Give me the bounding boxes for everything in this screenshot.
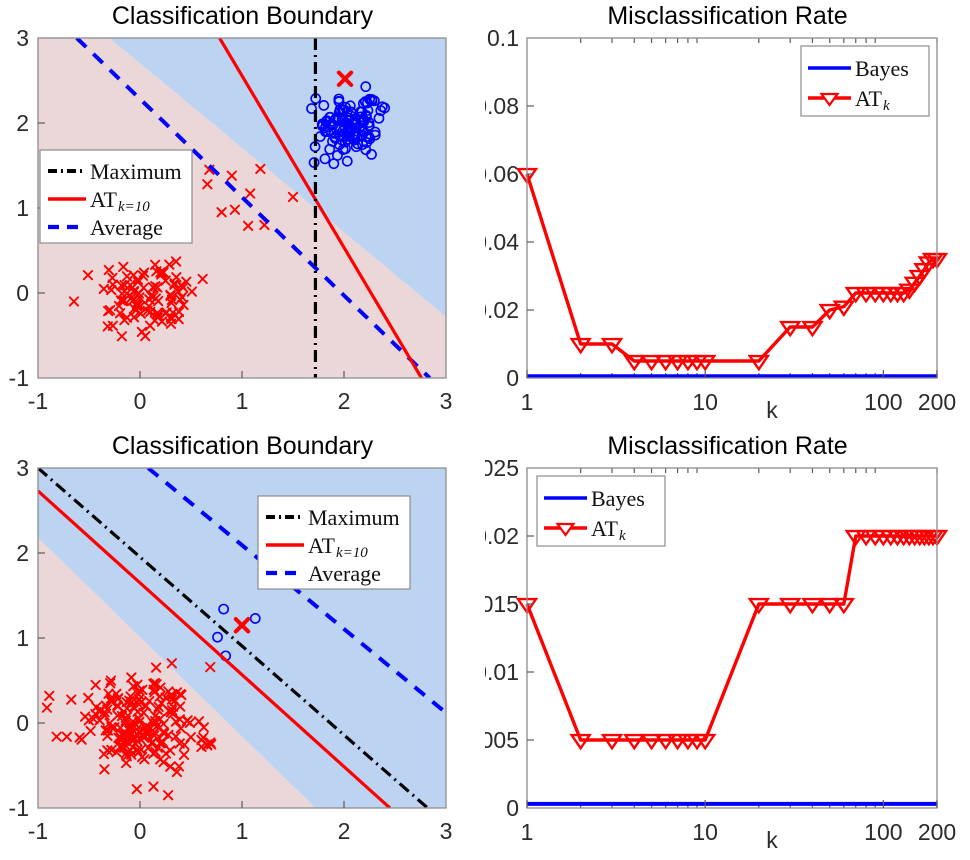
x-tick-label: -1	[28, 818, 48, 844]
y-tick-label: 0	[506, 795, 519, 821]
legend-label-subscript: k	[619, 528, 626, 544]
panel-top-right-misclassification-rate: Misclassification Rate 11010020000.020.0…	[485, 0, 970, 430]
y-tick-label: 1	[16, 195, 29, 221]
legend-label: Bayes	[855, 56, 909, 81]
panel-bottom-left-classification-boundary: Classification Boundary -10123-10123Maxi…	[0, 430, 485, 860]
y-tick-label: 0.1	[487, 25, 519, 51]
x-tick-label: 10	[692, 819, 718, 845]
x-tick-label: 10	[692, 389, 718, 415]
x-tick-label: 2	[338, 388, 351, 414]
y-tick-label: 2	[16, 110, 29, 136]
x-tick-label: 200	[918, 389, 956, 415]
y-tick-label: 0.02	[485, 297, 519, 323]
x-tick-label: 3	[440, 818, 453, 844]
legend-label: AT	[90, 187, 117, 212]
panel-top-left-classification-boundary: Classification Boundary -10123-10123Maxi…	[0, 0, 485, 430]
legend-label-subscript: k=10	[118, 199, 150, 215]
y-tick-label: 2	[16, 540, 29, 566]
legend: MaximumATk=10Average	[40, 150, 192, 243]
figure-root: Classification Boundary -10123-10123Maxi…	[0, 0, 970, 860]
x-tick-label: 2	[338, 818, 351, 844]
x-tick-label: 200	[918, 819, 956, 845]
y-tick-label: 0.02	[485, 523, 519, 549]
y-tick-label: -1	[9, 795, 29, 821]
y-tick-label: 0	[506, 365, 519, 391]
plot-area-bottom-right: 11010020000.0050.010.0150.020.025kBayesA…	[485, 430, 970, 860]
y-tick-label: 3	[16, 455, 29, 481]
x-tick-label: 3	[440, 388, 453, 414]
y-tick-label: 0.005	[485, 727, 519, 753]
legend-label: Maximum	[90, 159, 182, 184]
x-tick-label: 0	[134, 818, 147, 844]
y-tick-label: 0.04	[485, 229, 519, 255]
legend-label-subscript: k	[883, 98, 890, 114]
y-tick-label: 0.025	[485, 455, 519, 481]
legend-label: Maximum	[308, 505, 400, 530]
x-tick-label: 1	[236, 818, 249, 844]
plot-area-bottom-left: -10123-10123MaximumATk=10Average	[0, 430, 485, 860]
x-tick-label: 100	[864, 819, 902, 845]
y-tick-label: 0.01	[485, 659, 519, 685]
y-tick-label: 0.06	[485, 161, 519, 187]
x-tick-label: 0	[134, 388, 147, 414]
y-tick-label: 0	[16, 280, 29, 306]
legend-label: AT	[855, 86, 882, 111]
legend: BayesATk	[537, 476, 665, 546]
y-tick-label: 0	[16, 710, 29, 736]
plot-area-top-right: 11010020000.020.040.060.080.1kBayesATk	[485, 0, 970, 430]
y-tick-label: -1	[9, 365, 29, 391]
y-tick-label: 0.08	[485, 93, 519, 119]
x-axis-label: k	[766, 827, 778, 853]
legend-label-subscript: k=10	[336, 545, 368, 561]
x-tick-label: 1	[236, 388, 249, 414]
panel-bottom-right-misclassification-rate: Misclassification Rate 11010020000.0050.…	[485, 430, 970, 860]
legend-label: AT	[591, 516, 618, 541]
legend-label: Bayes	[591, 486, 645, 511]
legend: MaximumATk=10Average	[258, 496, 410, 589]
x-tick-label: 1	[521, 819, 534, 845]
y-tick-label: 0.015	[485, 591, 519, 617]
plot-area-top-left: -10123-10123MaximumATk=10Average	[0, 0, 485, 430]
x-tick-label: 100	[864, 389, 902, 415]
y-tick-label: 1	[16, 625, 29, 651]
legend-label: Average	[90, 215, 163, 240]
legend: BayesATk	[801, 46, 929, 116]
x-axis-label: k	[766, 397, 778, 423]
y-tick-label: 3	[16, 25, 29, 51]
legend-label: AT	[308, 533, 335, 558]
x-tick-label: -1	[28, 388, 48, 414]
x-tick-label: 1	[521, 389, 534, 415]
legend-label: Average	[308, 561, 381, 586]
